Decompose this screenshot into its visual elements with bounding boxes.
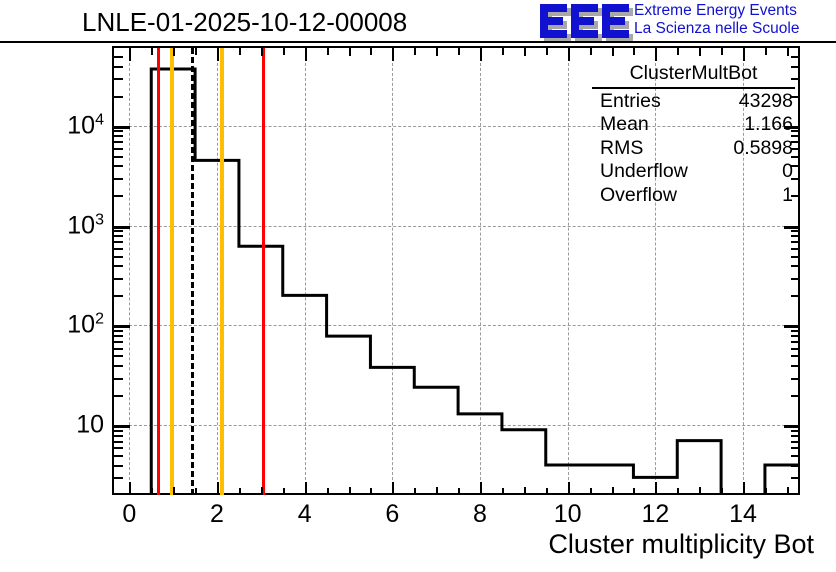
y-tick-major: [114, 226, 130, 229]
y-tick-label: 104: [67, 111, 104, 140]
y-tick-minor-right: [791, 447, 800, 449]
stats-value: 1: [782, 184, 793, 208]
y-tick-minor-right: [791, 465, 800, 467]
y-tick-minor: [114, 256, 123, 258]
x-tick-top: [787, 48, 789, 56]
y-tick-minor: [114, 130, 123, 132]
x-tick-minor: [327, 488, 329, 495]
x-tick-top: [392, 48, 394, 61]
stats-title: ClusterMultBot: [592, 62, 795, 87]
y-tick-minor-right: [791, 278, 800, 280]
x-tick: [568, 482, 570, 495]
y-tick-minor-right: [791, 395, 800, 397]
x-tick-top: [480, 48, 482, 61]
x-tick-minor-top: [765, 48, 767, 55]
x-tick-minor: [590, 488, 592, 495]
x-tick-minor-top: [327, 48, 329, 55]
y-tick-minor: [114, 248, 123, 250]
eee-logo-line1: Extreme Energy Events: [634, 2, 799, 20]
eee-logo-line2: La Scienza nelle Scuole: [634, 20, 799, 38]
eee-letter-1: [540, 4, 564, 38]
y-tick-minor-right: [791, 341, 800, 343]
x-tick-label: 0: [122, 500, 136, 529]
x-tick: [480, 482, 482, 495]
x-tick-minor-top: [721, 48, 723, 55]
y-tick-minor: [114, 341, 123, 343]
y-tick-major-right: [784, 226, 800, 229]
y-tick-minor: [114, 441, 123, 443]
y-tick-minor-right: [791, 435, 800, 437]
y-tick-minor-right: [791, 348, 800, 350]
x-tick-top: [568, 48, 570, 61]
x-tick-label: 6: [385, 500, 399, 529]
stats-row: Overflow1: [592, 184, 795, 208]
y-tick-minor-right: [791, 455, 800, 457]
stats-row: Underflow0: [592, 160, 795, 184]
y-tick-major: [114, 325, 130, 328]
y-tick-major: [114, 425, 130, 428]
y-tick-minor: [114, 295, 123, 297]
y-tick-minor: [114, 66, 123, 68]
stats-label: Underflow: [600, 160, 688, 184]
x-tick-minor: [414, 488, 416, 495]
stats-row: RMS0.5898: [592, 137, 795, 161]
y-tick-minor-right: [791, 430, 800, 432]
x-tick-top: [129, 48, 131, 61]
x-tick-top: [217, 48, 219, 61]
y-tick-label: 10: [76, 411, 104, 440]
y-tick-minor: [114, 455, 123, 457]
y-tick-minor: [114, 465, 123, 467]
x-tick-minor-top: [239, 48, 241, 55]
x-tick-minor: [633, 488, 635, 495]
page-title: LNLE-01-2025-10-12-00008: [82, 7, 407, 38]
y-tick-minor: [114, 447, 123, 449]
y-tick-minor-right: [791, 295, 800, 297]
y-tick-minor: [114, 348, 123, 350]
y-tick-minor: [114, 195, 123, 197]
x-tick-minor: [239, 488, 241, 495]
x-tick-minor: [765, 488, 767, 495]
y-tick-minor: [114, 265, 123, 267]
y-tick-minor: [114, 235, 123, 237]
y-tick-minor: [114, 230, 123, 232]
stats-label: Mean: [600, 113, 649, 137]
x-tick-minor: [458, 488, 460, 495]
x-tick-label: 8: [473, 500, 487, 529]
x-tick: [349, 487, 351, 495]
x-tick-top: [612, 48, 614, 56]
eee-mark-icon: [540, 4, 628, 38]
y-tick-minor: [114, 435, 123, 437]
root-canvas: LNLE-01-2025-10-12-00008 Extreme Energy …: [0, 0, 836, 572]
y-tick-minor: [114, 330, 123, 332]
y-tick-minor-right: [791, 335, 800, 337]
x-tick: [743, 482, 745, 495]
x-tick-minor: [195, 488, 197, 495]
y-tick-minor: [114, 355, 123, 357]
stats-divider: [592, 87, 795, 89]
y-tick-minor: [114, 141, 123, 143]
x-tick: [173, 487, 175, 495]
y-tick-minor-right: [791, 441, 800, 443]
x-tick-top: [261, 48, 263, 56]
x-tick: [612, 487, 614, 495]
x-tick-minor-top: [546, 48, 548, 55]
y-tick-minor: [114, 135, 123, 137]
y-tick-minor: [114, 78, 123, 80]
x-tick-top: [524, 48, 526, 56]
y-tick-minor: [114, 335, 123, 337]
marker-line-orange-left: [170, 48, 174, 495]
x-tick-label: 10: [554, 500, 582, 529]
y-tick-label: 103: [67, 211, 104, 240]
x-tick-minor-top: [283, 48, 285, 55]
x-tick: [699, 487, 701, 495]
eee-logo-text: Extreme Energy Events La Scienza nelle S…: [634, 2, 799, 38]
x-tick-minor-top: [502, 48, 504, 55]
x-tick-top: [173, 48, 175, 56]
y-tick-minor: [114, 278, 123, 280]
x-tick-label: 4: [298, 500, 312, 529]
x-tick-minor: [151, 488, 153, 495]
x-tick-minor-top: [414, 48, 416, 55]
y-tick-minor-right: [791, 477, 800, 479]
x-tick: [436, 487, 438, 495]
stats-row: Entries43298: [592, 90, 795, 114]
y-tick-minor-right: [791, 230, 800, 232]
stats-rows: Entries43298Mean1.166RMS0.5898Underflow0…: [592, 90, 795, 208]
x-tick-minor: [370, 488, 372, 495]
y-tick-major: [114, 126, 130, 129]
x-tick: [655, 482, 657, 495]
y-tick-minor: [114, 56, 123, 58]
y-tick-minor-right: [791, 355, 800, 357]
stats-label: Entries: [600, 90, 661, 114]
x-tick-top: [436, 48, 438, 56]
x-tick-top: [655, 48, 657, 61]
x-tick-label: 2: [210, 500, 224, 529]
marker-line-orange-right: [220, 48, 224, 495]
x-axis-title: Cluster multiplicity Bot: [548, 529, 814, 560]
stats-label: Overflow: [600, 184, 677, 208]
x-tick: [261, 487, 263, 495]
x-tick-minor-top: [633, 48, 635, 55]
y-tick-minor: [114, 365, 123, 367]
x-tick-minor: [502, 488, 504, 495]
x-tick: [787, 487, 789, 495]
marker-line-red-right: [262, 48, 265, 495]
x-tick: [305, 482, 307, 495]
stats-value: 0: [782, 160, 793, 184]
marker-line-red-left: [157, 48, 160, 495]
y-tick-minor: [114, 178, 123, 180]
x-tick-minor-top: [195, 48, 197, 55]
stats-box: ClusterMultBot Entries43298Mean1.166RMS0…: [592, 62, 795, 208]
stats-row: Mean1.166: [592, 113, 795, 137]
x-tick-minor: [721, 488, 723, 495]
eee-logo: Extreme Energy Events La Scienza nelle S…: [540, 2, 836, 42]
y-tick-minor-right: [791, 241, 800, 243]
x-tick: [217, 482, 219, 495]
x-tick-minor: [546, 488, 548, 495]
y-tick-minor: [114, 395, 123, 397]
stats-value: 43298: [739, 90, 793, 114]
x-tick: [392, 482, 394, 495]
x-tick-minor: [677, 488, 679, 495]
eee-letter-2: [571, 4, 595, 38]
y-tick-minor: [114, 96, 123, 98]
y-tick-minor-right: [791, 265, 800, 267]
y-tick-major-right: [784, 425, 800, 428]
x-tick-label: 12: [641, 500, 669, 529]
y-tick-minor-right: [791, 378, 800, 380]
x-tick-top: [699, 48, 701, 56]
stats-label: RMS: [600, 137, 643, 161]
y-tick-minor: [114, 477, 123, 479]
y-tick-minor-right: [791, 330, 800, 332]
y-tick-minor: [114, 241, 123, 243]
x-tick-minor-top: [151, 48, 153, 55]
y-tick-minor: [114, 378, 123, 380]
x-tick-minor-top: [590, 48, 592, 55]
x-tick-top: [743, 48, 745, 61]
x-tick-minor-top: [458, 48, 460, 55]
x-tick-top: [305, 48, 307, 61]
y-tick-minor: [114, 156, 123, 158]
y-tick-minor: [114, 430, 123, 432]
x-tick: [524, 487, 526, 495]
stats-value: 0.5898: [733, 137, 793, 161]
marker-line-mean-dashed: [191, 48, 194, 495]
x-tick: [129, 482, 131, 495]
y-tick-minor-right: [791, 256, 800, 258]
x-tick-label: 14: [729, 500, 757, 529]
header-divider: [0, 41, 836, 43]
x-tick-minor: [283, 488, 285, 495]
x-tick-top: [349, 48, 351, 56]
y-tick-minor: [114, 165, 123, 167]
y-tick-major-right: [784, 325, 800, 328]
y-tick-minor-right: [791, 235, 800, 237]
x-tick-minor-top: [677, 48, 679, 55]
stats-value: 1.166: [744, 113, 793, 137]
y-tick-label: 102: [67, 311, 104, 340]
y-tick-minor-right: [791, 248, 800, 250]
y-tick-minor-right: [791, 365, 800, 367]
eee-letter-3: [602, 4, 626, 38]
x-tick-minor-top: [370, 48, 372, 55]
y-tick-minor-right: [791, 56, 800, 58]
y-tick-minor: [114, 148, 123, 150]
